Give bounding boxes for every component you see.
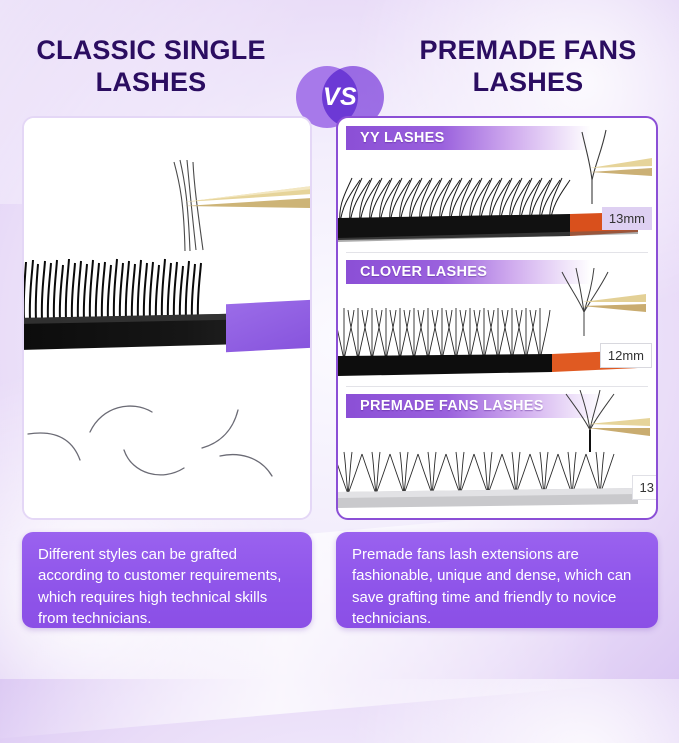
measurement-clover-lashes: 12mm — [600, 343, 652, 368]
classic-lash-strip — [22, 250, 312, 360]
row-divider — [346, 386, 648, 387]
row-label-text: CLOVER LASHES — [346, 264, 487, 280]
classic-single-lashes-panel — [22, 116, 312, 520]
row-premade-fans-lashes: PREMADE FANS LASHES — [338, 386, 656, 518]
row-clover-lashes: CLOVER LASHES — [338, 252, 656, 386]
lash-strip-purple-tag — [226, 300, 312, 353]
premade-fans-lashes-panel: YY LASHES — [336, 116, 658, 520]
header: CLASSIC SINGLE LASHES VS PREMADE FANS LA… — [0, 28, 679, 106]
row-divider — [346, 252, 648, 253]
measurement-yy-lashes: 13mm — [602, 207, 652, 230]
row-label-text: PREMADE FANS LASHES — [346, 398, 544, 414]
measurement-premade-fans: 13 — [632, 475, 658, 500]
right-panel-title: PREMADE FANS LASHES — [385, 28, 671, 106]
left-panel-title: CLASSIC SINGLE LASHES — [8, 28, 294, 106]
tweezers-with-single-lashes-icon — [144, 158, 312, 253]
premade-fan-with-tweezers-icon — [558, 390, 650, 466]
row-label-text: YY LASHES — [346, 130, 445, 146]
clover-fan-with-tweezers-icon — [550, 266, 646, 338]
right-panel-caption: Premade fans lash extensions are fashion… — [336, 532, 658, 628]
row-yy-lashes: YY LASHES — [338, 118, 656, 252]
left-panel-caption: Different styles can be grafted accordin… — [22, 532, 312, 628]
classic-lashes-artwork — [24, 118, 310, 518]
loose-single-lashes — [24, 394, 312, 516]
yy-fan-with-tweezers-icon — [556, 128, 652, 206]
